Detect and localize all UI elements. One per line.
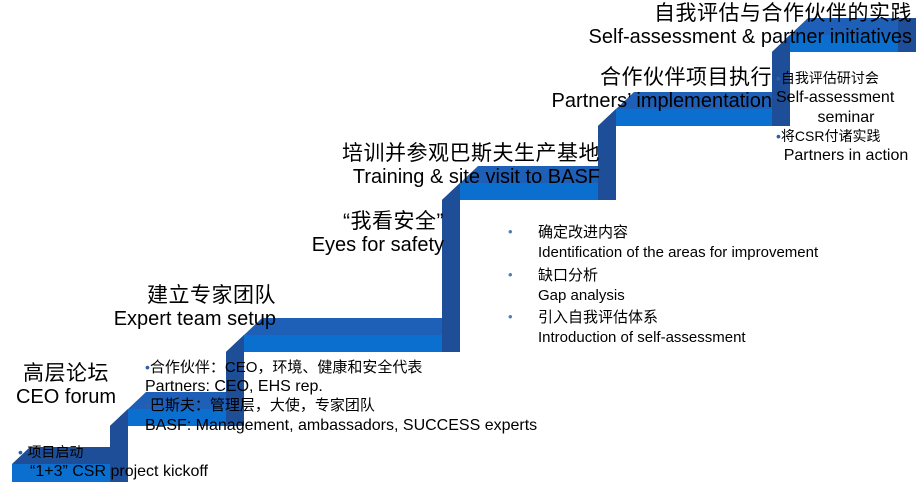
note-cn: 将CSR付诸实践 (781, 128, 881, 144)
step-5-label-en: Partners’ implementation (408, 90, 772, 113)
note-en: Partners in action (784, 147, 909, 164)
note-en: “1+3” CSR project kickoff (30, 463, 208, 480)
step-4-label: 培训并参观巴斯夫生产基地 Training & site visit to BA… (220, 142, 600, 188)
list-item: Partners: CEO, EHS rep. (145, 377, 537, 396)
notes-improvement-block: • 确定改进内容 Identification of the areas for… (508, 223, 818, 351)
step-2-label-cn: 建立专家团队 (68, 284, 276, 308)
note-cn: 合作伙伴：CEO，环境、健康和安全代表 (150, 359, 423, 376)
stair-riser-3 (442, 183, 460, 352)
note-en: Self-assessment (776, 89, 894, 106)
note-en: Identification of the areas for improvem… (538, 244, 818, 261)
step-6-label-en: Self-assessment & partner initiatives (516, 26, 912, 49)
bullet-icon: • (508, 266, 538, 284)
step-3-label: “我看安全” Eyes for safety (232, 210, 444, 256)
list-item: •自我评估研讨会 Self-assessment seminar (776, 70, 916, 128)
staircase-diagram: 高层论坛 CEO forum 建立专家团队 Expert team setup … (0, 0, 916, 482)
notes-kickoff-block: • 项目启动 “1+3” CSR project kickoff (18, 443, 208, 481)
step-6-label: 自我评估与合作伙伴的实践 Self-assessment & partner i… (516, 2, 912, 48)
note-cn: 引入自我评估体系 (538, 308, 658, 328)
list-item: •将CSR付诸实践 Partners in action (776, 128, 916, 166)
list-item: BASF: Management, ambassadors, SUCCESS e… (145, 416, 537, 435)
bullet-icon: • (508, 308, 538, 326)
note-cn: 项目启动 (27, 444, 83, 460)
notes-self-assessment-block: •自我评估研讨会 Self-assessment seminar •将CSR付诸… (776, 70, 916, 166)
note-cn: 自我评估研讨会 (781, 70, 879, 86)
list-item: •合作伙伴：CEO，环境、健康和安全代表 (145, 358, 537, 377)
note-en: Gap analysis (538, 287, 625, 304)
bullet-icon: • (508, 223, 538, 241)
note-cn: 缺口分析 (538, 266, 598, 286)
bullet-icon: • (18, 444, 23, 460)
list-item: • 引入自我评估体系 Introduction of self-assessme… (508, 308, 818, 349)
list-item: “1+3” CSR project kickoff (18, 462, 208, 481)
notes-partners-block: •合作伙伴：CEO，环境、健康和安全代表 Partners: CEO, EHS … (145, 358, 537, 435)
note-en: Introduction of self-assessment (538, 329, 746, 346)
step-3-label-cn: “我看安全” (232, 210, 444, 234)
step-1-label-en: CEO forum (6, 386, 126, 409)
list-item: •巴斯夫：管理层，大使，专家团队 (145, 396, 537, 415)
step-5-label-cn: 合作伙伴项目执行 (408, 66, 772, 90)
step-2-label-en: Expert team setup (68, 308, 276, 331)
list-item: • 项目启动 (18, 443, 208, 462)
step-4-label-cn: 培训并参观巴斯夫生产基地 (220, 142, 600, 166)
step-5-label: 合作伙伴项目执行 Partners’ implementation (408, 66, 772, 112)
step-3-label-en: Eyes for safety (232, 234, 444, 257)
note-en: BASF: Management, ambassadors, SUCCESS e… (145, 417, 537, 434)
list-item: • 确定改进内容 Identification of the areas for… (508, 223, 818, 264)
note-cn: 确定改进内容 (538, 223, 628, 243)
step-6-label-cn: 自我评估与合作伙伴的实践 (516, 2, 912, 26)
step-1-label: 高层论坛 CEO forum (6, 362, 126, 408)
note-en-cont: seminar (818, 109, 875, 126)
step-4-label-en: Training & site visit to BASF (220, 166, 600, 189)
step-2-label: 建立专家团队 Expert team setup (68, 284, 276, 330)
list-item: • 缺口分析 Gap analysis (508, 266, 818, 307)
note-en: Partners: CEO, EHS rep. (145, 378, 323, 395)
note-cn: 巴斯夫：管理层，大使，专家团队 (150, 397, 375, 414)
step-1-label-cn: 高层论坛 (6, 362, 126, 386)
